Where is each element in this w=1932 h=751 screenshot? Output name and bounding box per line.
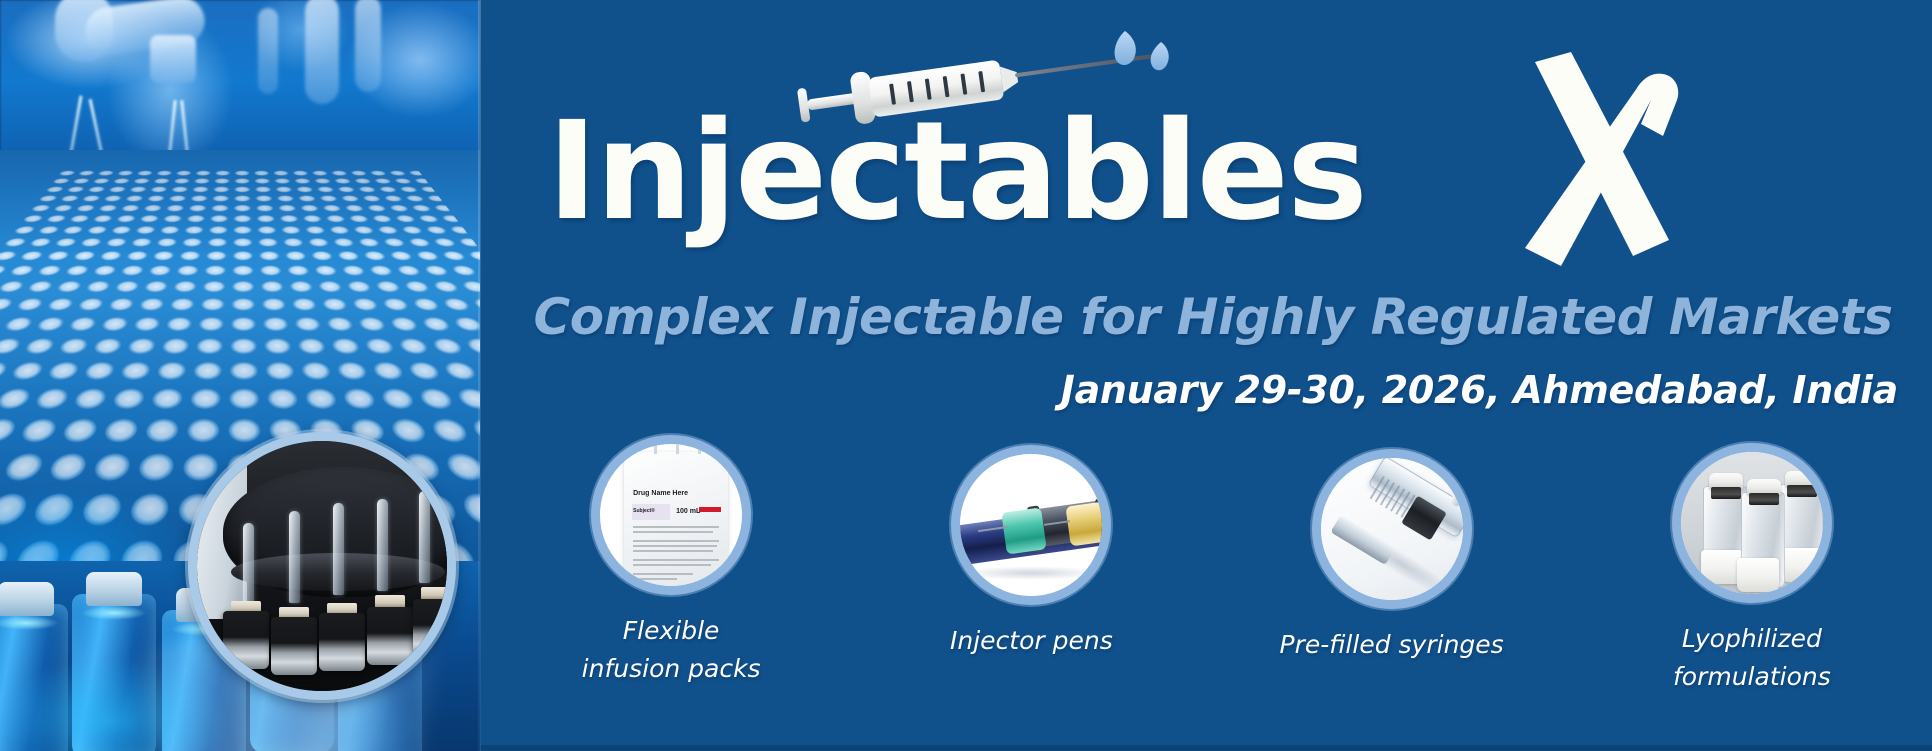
product-caption: Injector pens [950,622,1113,660]
iv-text-line [633,540,719,542]
iv-text-line [633,573,693,575]
product-caption: Pre-filled syringes [1280,626,1504,664]
ampoule [333,503,344,595]
lyophilized-cake [1737,558,1779,592]
piston-pump [223,611,269,669]
inset-machine-photo [188,432,456,700]
product-item-lyophilized-formulations[interactable]: Lyophilized formulations [1602,443,1902,696]
product-thumbnail[interactable] [1312,449,1472,609]
robot-arm-segment [355,0,381,92]
droplet-icon [1115,31,1136,65]
iv-text-line [633,550,713,552]
pen-shadow [960,566,1102,580]
iv-port [698,444,701,454]
logo-lockup: Injectables [481,92,1932,262]
logo-wordmark: Injectables [547,92,1366,252]
logo-x-mark [1517,44,1687,274]
lyophilized-cake [1781,548,1823,582]
piston-pump [367,607,413,665]
pen-needle-amber [1066,502,1109,547]
syringe-flange [1449,466,1472,507]
iv-text-line [633,545,717,547]
stylized-x-icon [1517,44,1687,274]
left-photo-panel [0,0,480,751]
product-category-row: Drug Name Here Subject® 100 mL [491,435,1932,751]
product-caption: Flexible infusion packs [582,612,761,688]
robot-arm-segment [305,0,339,104]
iv-text-line [633,578,677,580]
tagline: Complex Injectable for Highly Regulated … [533,288,1893,346]
product-caption: Lyophilized formulations [1673,620,1831,696]
iv-warning-band [699,507,721,512]
iv-port [676,444,679,454]
ampoule [419,491,430,583]
iv-text-line [633,531,713,533]
product-item-prefilled-syringes[interactable]: Pre-filled syringes [1242,449,1542,664]
iv-brand: Subject® [633,508,655,514]
lyophilized-vial-icon [1681,452,1823,594]
piston-pump [271,617,317,675]
product-thumbnail[interactable] [951,445,1111,605]
date-location: January 29-30, 2026, Ahmedabad, India [481,368,1898,412]
product-thumbnail[interactable] [1672,443,1832,603]
iv-bag-icon: Drug Name Here Subject® 100 mL [624,452,728,590]
prefilled-syringe-icon [1321,458,1463,600]
product-thumbnail[interactable]: Drug Name Here Subject® 100 mL [591,435,751,595]
injector-pen-icon [960,454,1102,596]
iv-text-line [633,526,719,528]
iv-volume: 100 mL [676,508,700,515]
iv-port [654,444,657,454]
robot-arm-segment [258,8,278,94]
piston-pump [319,613,365,671]
iv-text-line [633,559,719,561]
droplet-icon [1151,42,1169,70]
ampoule [289,511,300,603]
event-banner: Injectables Complex Injectable for Highl… [0,0,1932,751]
product-item-injector-pens[interactable]: Injector pens [881,445,1181,660]
product-item-flexible-infusion-packs[interactable]: Drug Name Here Subject® 100 mL [521,435,821,688]
pen-needle-teal [1002,507,1047,554]
banner-content-panel: Injectables Complex Injectable for Highl… [481,0,1932,751]
iv-drug-name: Drug Name Here [633,490,688,497]
iv-text-line [633,564,711,566]
robot-arm-segment [150,35,196,83]
ampoule [377,499,388,591]
